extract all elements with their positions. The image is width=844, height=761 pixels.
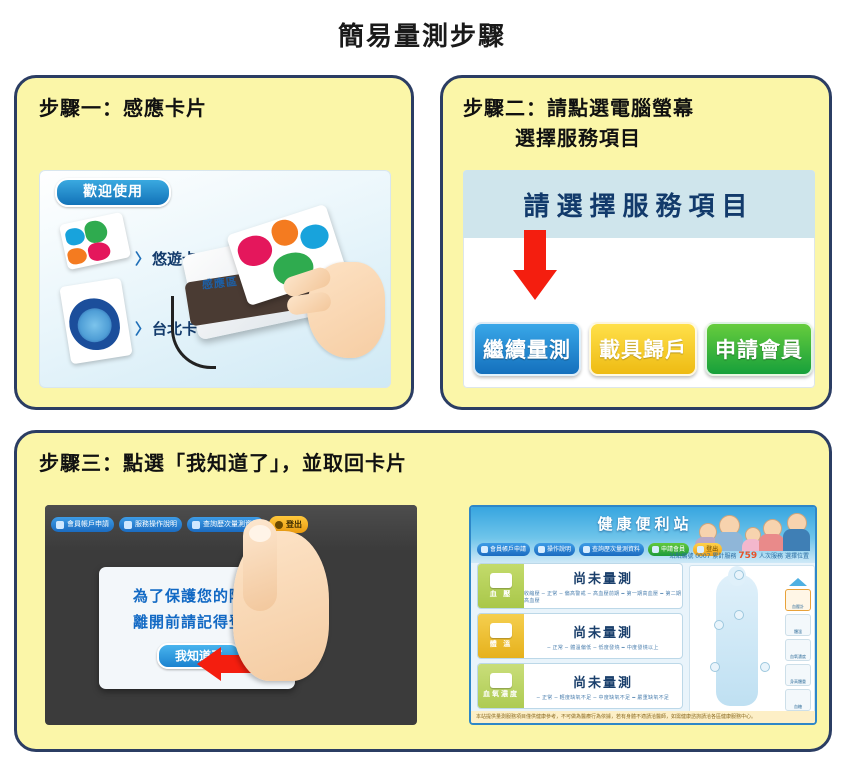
down-arrow-icon [513,230,557,302]
hand-pointing-illustration [233,531,329,681]
measurement-name: 血 壓 [490,589,512,599]
measurement-list: 血 壓 尚未量測 收縮壓 ─ 正常 ─ 偏高警戒 ─ 高血壓前期 ━ 第一期高血… [477,563,683,713]
human-body-figure [716,574,758,706]
device-thermometer[interactable]: 體溫 [785,614,811,636]
body-diagram-panel: 血壓計 體溫 血氧濃度 身高體重 血糖 [689,565,815,719]
step2-title-line1: 步驟二：請點選電腦螢幕 [463,92,694,121]
hs-nav-help[interactable]: 操作說明 [534,543,575,556]
device-blood-pressure[interactable]: 血壓計 [785,589,811,611]
scroll-up-icon[interactable] [789,578,807,586]
step1-title: 步驟一：感應卡片 [39,92,207,121]
kiosk-nav-help[interactable]: 服務操作說明 [119,517,182,532]
body-point-head [734,570,744,580]
health-station-meta: 站點編號 0007 累計服務 759 人次服務 選擇位置 [669,551,809,561]
measurement-legend: 收縮壓 ─ 正常 ─ 偏高警戒 ─ 高血壓前期 ━ 第一期高血壓 ━ 第二期高血… [524,590,682,604]
continue-measure-button[interactable]: 繼續量測 [473,322,581,376]
thermometer-icon: 體 溫 [478,614,524,658]
measurement-row[interactable]: 體 溫 尚未量測 ─ 正常 ─ 體溫偏低 ─ 低度發燒 ━ 中度發燒以上 [477,613,683,659]
health-station-screen: 健康便利站 會員帳戶申請 操作說明 [469,505,817,725]
card-icon [56,521,64,529]
device-blood-sugar[interactable]: 血糖 [785,689,811,711]
kiosk-nav-member-apply[interactable]: 會員帳戶申請 [51,517,114,532]
location-link[interactable]: 選擇位置 [785,553,809,560]
measurement-body: 尚未量測 收縮壓 ─ 正常 ─ 偏高警戒 ─ 高血壓前期 ━ 第一期高血壓 ━ … [524,564,682,608]
service-button-row: 繼續量測 載具歸戶 申請會員 [473,322,813,376]
carrier-binding-button[interactable]: 載具歸戶 [589,322,697,376]
measurement-row[interactable]: 血 壓 尚未量測 收縮壓 ─ 正常 ─ 偏高警戒 ─ 高血壓前期 ━ 第一期高血… [477,563,683,609]
device-rail: 血壓計 體溫 血氧濃度 身高體重 血糖 [785,578,811,719]
hand-pointer-icon [538,546,545,553]
step1-panel: 步驟一：感應卡片 歡迎使用 〉悠遊卡 〉台北卡 感應區 [14,75,414,410]
welcome-badge: 歡迎使用 [55,178,171,207]
chevron-right-icon: 〉 [135,250,150,268]
hs-nav-history[interactable]: 查詢歷次量測資料 [579,543,644,556]
measurement-value: 尚未量測 [573,568,633,587]
step2-title-line2: 選擇服務項目 [515,122,641,151]
hs-nav-member-apply[interactable]: 會員帳戶申請 [477,543,530,556]
oximeter-icon: 血氧濃度 [478,664,524,708]
body-point-chest [734,610,744,620]
step3-title: 步驟三：點選「我知道了」，並取回卡片 [39,447,407,476]
body-point-right-hand [710,662,720,672]
device-height-weight[interactable]: 身高體重 [785,664,811,686]
chevron-right-icon: 〉 [135,320,150,338]
service-banner: 請選擇服務項目 [463,170,815,238]
search-icon [192,521,200,529]
logout-icon [275,521,283,529]
card-icon [481,546,488,553]
health-station-footer: 本站提供量測服務項目僅供健康參考，不可做為醫療行為依據，若有身體不適請洽醫師，如… [471,711,817,723]
hand-pointer-icon [124,521,132,529]
person-add-icon [652,546,659,553]
taipeicard-graphic [59,278,132,365]
measurement-value: 尚未量測 [573,672,633,691]
measurement-body: 尚未量測 ─ 正常 ─ 體溫偏低 ─ 低度發燒 ━ 中度發燒以上 [524,614,682,658]
measurement-value: 尚未量測 [573,622,633,641]
search-icon [583,546,590,553]
measurement-legend: ─ 正常 ─ 體溫偏低 ─ 低度發燒 ━ 中度發燒以上 [547,644,658,651]
hand-illustration [307,262,385,358]
easycard-graphic [59,212,131,270]
measurement-name: 血氧濃度 [483,689,519,699]
step2-panel: 步驟二：請點選電腦螢幕 選擇服務項目 請選擇服務項目 繼續量測 載具歸戶 申請會… [440,75,832,410]
page-title: 簡易量測步驟 [0,16,844,53]
measurement-name: 體 溫 [490,639,512,649]
body-point-left-hand [760,662,770,672]
service-banner-text: 請選擇服務項目 [523,186,754,223]
body-point-arm [714,620,724,630]
service-count: 759 [738,551,757,561]
measurement-row[interactable]: 血氧濃度 尚未量測 ─ 正常 ─ 輕度缺氧不足 ─ 中度缺氧不足 ━ 嚴重缺氧不… [477,663,683,709]
step1-illustration: 歡迎使用 〉悠遊卡 〉台北卡 感應區 [39,170,391,388]
blood-pressure-icon: 血 壓 [478,564,524,608]
kiosk-screen-logout: 會員帳戶申請 服務操作說明 查詢歷次量測資料 登出 為了保護您的隱私 離開前請記… [45,505,417,725]
device-oximeter[interactable]: 血氧濃度 [785,639,811,661]
measurement-legend: ─ 正常 ─ 輕度缺氧不足 ─ 中度缺氧不足 ━ 嚴重缺氧不足 [537,694,669,701]
measurement-body: 尚未量測 ─ 正常 ─ 輕度缺氧不足 ─ 中度缺氧不足 ━ 嚴重缺氧不足 [524,664,682,708]
apply-member-button[interactable]: 申請會員 [705,322,813,376]
step2-screen: 請選擇服務項目 繼續量測 載具歸戶 申請會員 [463,170,815,388]
step3-panel: 步驟三：點選「我知道了」，並取回卡片 會員帳戶申請 服務操作說明 查詢歷次量測資… [14,430,832,752]
